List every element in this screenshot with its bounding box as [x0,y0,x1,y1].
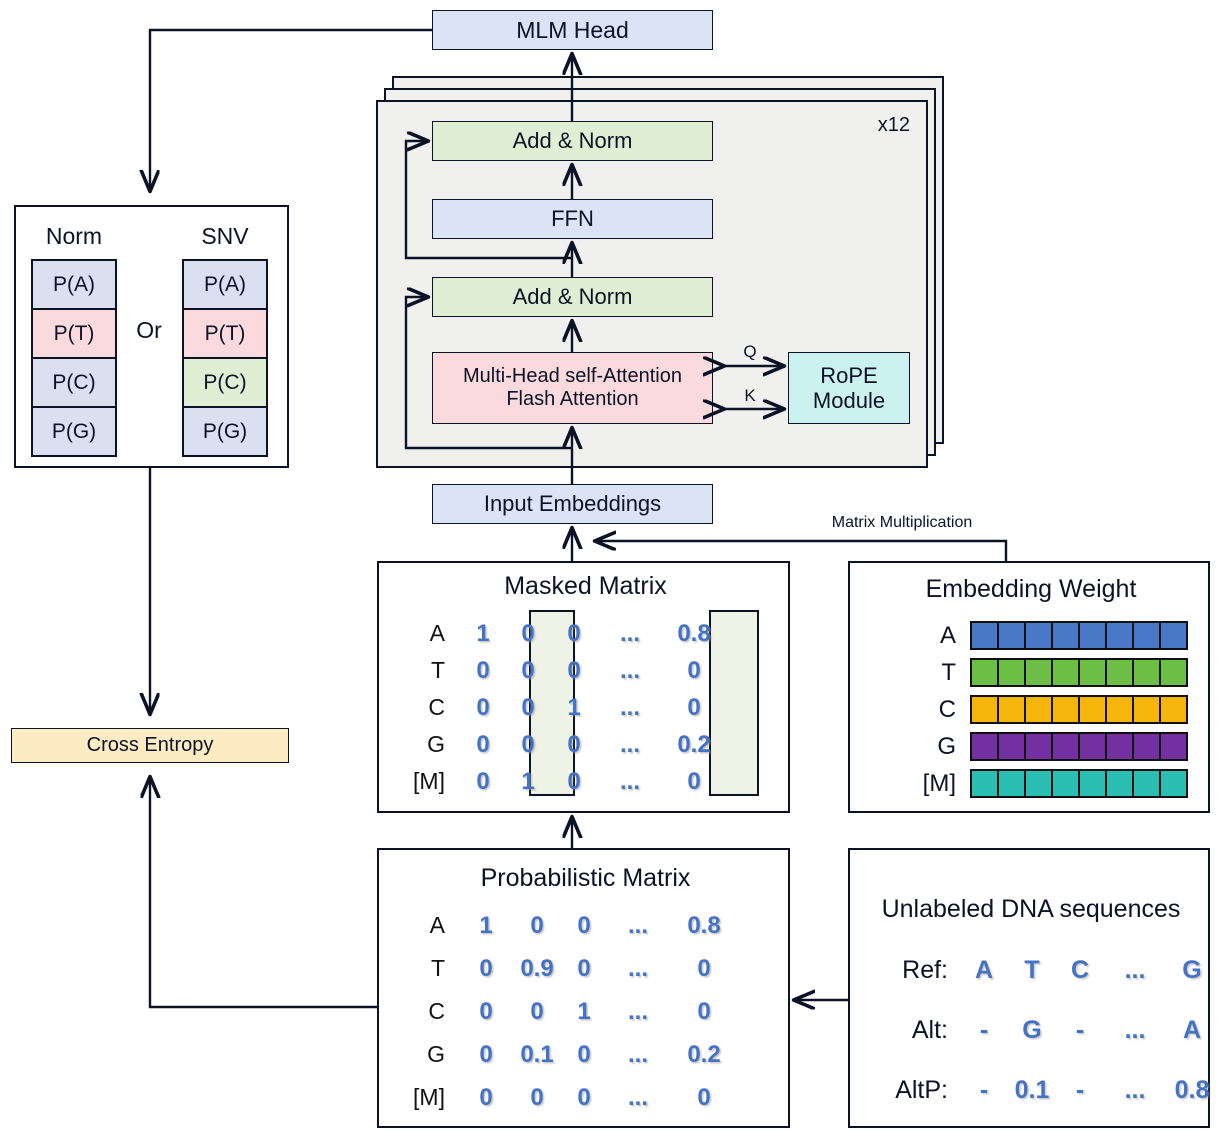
masked-matrix-cell: 0 [461,657,505,685]
probabilistic-matrix-cell: 0.8 [671,912,737,940]
masked-matrix-cell: 0 [505,731,551,759]
embedding-weight-row: A [902,617,1188,654]
embedding-weight-cell [1134,623,1161,648]
embedding-weight-cells [970,695,1188,724]
embedding-weight-cells [970,658,1188,687]
dna-sequence-row-label: Ref: [862,956,960,985]
probabilistic-matrix-panel: Probabilistic Matrix A 1 0 0 ... 0.8 T 0… [377,848,790,1128]
cross-entropy-box[interactable]: Cross Entropy [11,728,289,763]
masked-matrix-row: A 1 0 0 ... 0.8 [379,615,792,652]
probabilistic-matrix-cell: 0 [461,1041,511,1069]
probabilistic-matrix-title: Probabilistic Matrix [379,864,792,893]
rope-label-line1: RoPE [820,363,877,388]
prediction-cell-snv-c: P(C) [184,359,266,408]
encoder-repeat-label: x12 [858,112,910,138]
masked-matrix-cell: 1 [551,694,597,722]
embedding-weight-row: [M] [902,765,1188,802]
prediction-cell-norm-t: P(T) [33,310,115,359]
dna-sequence-cell: - [960,1016,1008,1045]
probabilistic-matrix-row: [M] 0 0 0 ... 0 [379,1076,792,1119]
embedding-weight-cell [1161,697,1186,722]
probabilistic-matrix-row: C 0 0 1 ... 0 [379,990,792,1033]
embedding-weight-cell [1026,623,1053,648]
embedding-weight-cell [1107,697,1134,722]
dna-sequences-body: Ref: A T C ... G Alt: - G - ... A AltP: … [862,940,1218,1120]
attention-box[interactable]: Multi-Head self-Attention Flash Attentio… [432,352,713,424]
prediction-connector-or: Or [126,312,172,348]
rope-edge-k-label: K [735,386,765,406]
embedding-weight-row-label: [M] [902,770,970,798]
embedding-weight-cell [1161,734,1186,759]
dna-sequence-row: Alt: - G - ... A [862,1000,1218,1060]
probabilistic-matrix-cell: 0 [671,1084,737,1112]
prediction-cell-snv-a: P(A) [184,261,266,310]
probabilistic-matrix-cell: 0 [563,912,605,940]
dna-sequence-cell: - [1056,1076,1104,1105]
embedding-weight-cell [1134,771,1161,796]
masked-matrix-cell: 0.2 [663,731,725,759]
embedding-weight-cell [972,771,999,796]
dna-sequences-panel: Unlabeled DNA sequences Ref: A T C ... G… [848,848,1210,1128]
dna-sequence-cell: - [960,1076,1008,1105]
dna-sequence-cell: C [1056,956,1104,985]
matrix-multiplication-label: Matrix Multiplication [812,512,992,534]
probabilistic-matrix-cell: 0 [563,1084,605,1112]
probabilistic-matrix-row-label: T [379,955,461,982]
prediction-cell-norm-a: P(A) [33,261,115,310]
embedding-weight-cell [1134,660,1161,685]
masked-matrix-cell: 0 [663,657,725,685]
dna-sequence-cell: ... [1104,1016,1166,1045]
probabilistic-matrix-row-label: [M] [379,1084,461,1111]
masked-matrix-cell: 0 [461,731,505,759]
embedding-weight-row: G [902,728,1188,765]
probabilistic-matrix-row: G 0 0.1 0 ... 0.2 [379,1033,792,1076]
prediction-cell-snv-t: P(T) [184,310,266,359]
embedding-weight-row: C [902,691,1188,728]
masked-matrix-panel: Masked Matrix A 1 0 0 ... 0.8 T 0 0 0 ..… [377,561,790,813]
masked-matrix-row: T 0 0 0 ... 0 [379,652,792,689]
embedding-weight-cell [1080,623,1107,648]
input-embeddings-label: Input Embeddings [484,491,661,516]
embedding-weight-row-label: T [902,659,970,687]
embedding-weight-cell [1026,734,1053,759]
embedding-weight-cell [1107,771,1134,796]
masked-matrix-cell: ... [597,657,663,685]
masked-matrix-cell: 0 [551,731,597,759]
embedding-weight-cell [1080,697,1107,722]
dna-sequence-cell: - [1056,1016,1104,1045]
masked-matrix-cell: 0 [505,620,551,648]
probabilistic-matrix-cell: ... [605,912,671,940]
rope-edge-q-label: Q [735,342,765,362]
masked-matrix-row-label: G [379,731,461,758]
masked-matrix-cell: 0 [551,657,597,685]
embedding-weight-cell [1161,771,1186,796]
embedding-weight-cell [1053,660,1080,685]
probabilistic-matrix-cell: 0 [563,955,605,983]
attention-label-line1: Multi-Head self-Attention [463,365,682,388]
embedding-weight-row: T [902,654,1188,691]
embedding-weight-cell [1107,660,1134,685]
probabilistic-matrix-cell: 1 [563,998,605,1026]
dna-sequence-cell: 0.8 [1166,1076,1218,1105]
embedding-weight-cell [999,734,1026,759]
embedding-weight-cell [1134,697,1161,722]
embedding-weight-row-label: G [902,733,970,761]
dna-sequence-cell: T [1008,956,1056,985]
prediction-column-header-snv: SNV [182,223,268,250]
masked-matrix-cell: 1 [461,620,505,648]
masked-matrix-cell: 0 [663,768,725,796]
probabilistic-matrix-cell: 0 [461,1084,511,1112]
probabilistic-matrix-row: T 0 0.9 0 ... 0 [379,947,792,990]
masked-matrix-cell: ... [597,768,663,796]
masked-matrix-cell: 0.8 [663,620,725,648]
embedding-weight-row-label: A [902,622,970,650]
probabilistic-matrix-cell: 0 [563,1041,605,1069]
embedding-weight-cell [999,660,1026,685]
rope-label-line2: Module [813,388,885,413]
dna-sequence-cell: G [1166,956,1218,985]
masked-matrix-row-label: T [379,657,461,684]
masked-matrix-row-label: C [379,694,461,721]
probabilistic-matrix-row: A 1 0 0 ... 0.8 [379,904,792,947]
probabilistic-matrix-cell: ... [605,998,671,1026]
embedding-weight-cell [1053,623,1080,648]
dna-sequence-cell: A [1166,1016,1218,1045]
probabilistic-matrix-row-label: A [379,912,461,939]
probabilistic-matrix-cell: 1 [461,912,511,940]
probabilistic-matrix-cell: 0 [671,955,737,983]
probabilistic-matrix-cell: ... [605,1084,671,1112]
embedding-weight-cells [970,732,1188,761]
probabilistic-matrix-cell: ... [605,955,671,983]
masked-matrix-cell: 0 [505,657,551,685]
embedding-weight-cell [1053,771,1080,796]
embedding-weight-cell [1134,734,1161,759]
probabilistic-matrix-cell: 0 [461,955,511,983]
dna-sequence-cell: ... [1104,956,1166,985]
ffn-box[interactable]: FFN [432,199,713,239]
embedding-weight-cell [999,697,1026,722]
add-norm-top-box[interactable]: Add & Norm [432,121,713,161]
embedding-weight-cell [1026,771,1053,796]
mlm-head-box[interactable]: MLM Head [432,10,713,50]
embedding-weight-cell [1107,734,1134,759]
dna-sequence-row-label: AltP: [862,1076,960,1105]
input-embeddings-box[interactable]: Input Embeddings [432,484,713,524]
arrow-embedding-weight-to-input-embeddings [596,541,1006,561]
embedding-weight-cell [972,734,999,759]
add-norm-top-label: Add & Norm [513,128,633,153]
probabilistic-matrix-row-label: G [379,1041,461,1068]
embedding-weight-title: Embedding Weight [850,575,1212,604]
embedding-weight-row-label: C [902,696,970,724]
probabilistic-matrix-body: A 1 0 0 ... 0.8 T 0 0.9 0 ... 0 C 0 0 1 … [379,904,792,1119]
masked-matrix-title: Masked Matrix [379,572,792,601]
masked-matrix-cell: 1 [505,768,551,796]
embedding-weight-cell [972,697,999,722]
attention-label-line2: Flash Attention [506,388,638,411]
mlm-head-label: MLM Head [516,17,628,43]
embedding-weight-panel: Embedding Weight A T [848,561,1210,813]
masked-matrix-row: [M] 0 1 0 ... 0 [379,763,792,800]
dna-sequence-row: AltP: - 0.1 - ... 0.8 [862,1060,1218,1120]
masked-matrix-cell: ... [597,620,663,648]
embedding-weight-cell [1080,771,1107,796]
embedding-weight-cell [1026,697,1053,722]
masked-matrix-cell: 0 [663,694,725,722]
masked-matrix-cell: 0 [551,768,597,796]
dna-sequence-cell: A [960,956,1008,985]
masked-matrix-cell: ... [597,694,663,722]
embedding-weight-cell [1107,623,1134,648]
masked-matrix-row: C 0 0 1 ... 0 [379,689,792,726]
prediction-cell-snv-g: P(G) [184,408,266,455]
dna-sequence-cell: G [1008,1016,1056,1045]
embedding-weight-cells [970,769,1188,798]
probabilistic-matrix-cell: 0 [671,998,737,1026]
probabilistic-matrix-row-label: C [379,998,461,1025]
masked-matrix-cell: 0 [551,620,597,648]
embedding-weight-cell [972,623,999,648]
masked-matrix-row: G 0 0 0 ... 0.2 [379,726,792,763]
embedding-weight-cell [999,623,1026,648]
probabilistic-matrix-cell: ... [605,1041,671,1069]
dna-sequences-title: Unlabeled DNA sequences [850,895,1212,924]
probabilistic-matrix-cell: 0.2 [671,1041,737,1069]
masked-matrix-body: A 1 0 0 ... 0.8 T 0 0 0 ... 0 C 0 0 1 ..… [379,615,792,800]
masked-matrix-row-label: A [379,620,461,647]
dna-sequence-cell: ... [1104,1076,1166,1105]
masked-matrix-row-label: [M] [379,768,461,795]
embedding-weight-cell [1026,660,1053,685]
embedding-weight-cell [1161,623,1186,648]
embedding-weight-cells [970,621,1188,650]
embedding-weight-cell [1161,660,1186,685]
probabilistic-matrix-cell: 0 [511,912,563,940]
masked-matrix-cell: 0 [461,768,505,796]
add-norm-bottom-box[interactable]: Add & Norm [432,277,713,317]
probabilistic-matrix-cell: 0.1 [511,1041,563,1069]
masked-matrix-cell: 0 [461,694,505,722]
embedding-weight-rows: A T [902,617,1188,802]
dna-sequence-row: Ref: A T C ... G [862,940,1218,1000]
probabilistic-matrix-cell: 0 [461,998,511,1026]
embedding-weight-cell [1053,734,1080,759]
embedding-weight-cell [1053,697,1080,722]
ffn-label: FFN [551,206,594,231]
embedding-weight-cell [1080,660,1107,685]
arrow-probabilistic-to-cross-entropy [150,778,377,1007]
masked-matrix-cell: ... [597,731,663,759]
prediction-panel: Norm SNV P(A) P(T) P(C) P(G) Or P(A) P(T… [14,205,289,468]
rope-module-box[interactable]: RoPE Module [788,352,910,424]
dna-sequence-row-label: Alt: [862,1016,960,1045]
add-norm-bottom-label: Add & Norm [513,284,633,309]
prediction-column-header-norm: Norm [31,223,117,250]
prediction-stack-snv: P(A) P(T) P(C) P(G) [182,259,268,457]
probabilistic-matrix-cell: 0 [511,1084,563,1112]
prediction-cell-norm-c: P(C) [33,359,115,408]
prediction-stack-norm: P(A) P(T) P(C) P(G) [31,259,117,457]
probabilistic-matrix-cell: 0.9 [511,955,563,983]
embedding-weight-cell [972,660,999,685]
dna-sequence-cell: 0.1 [1008,1076,1056,1105]
probabilistic-matrix-cell: 0 [511,998,563,1026]
embedding-weight-cell [999,771,1026,796]
embedding-weight-cell [1080,734,1107,759]
cross-entropy-label: Cross Entropy [87,734,214,757]
masked-matrix-cell: 0 [505,694,551,722]
prediction-cell-norm-g: P(G) [33,408,115,455]
